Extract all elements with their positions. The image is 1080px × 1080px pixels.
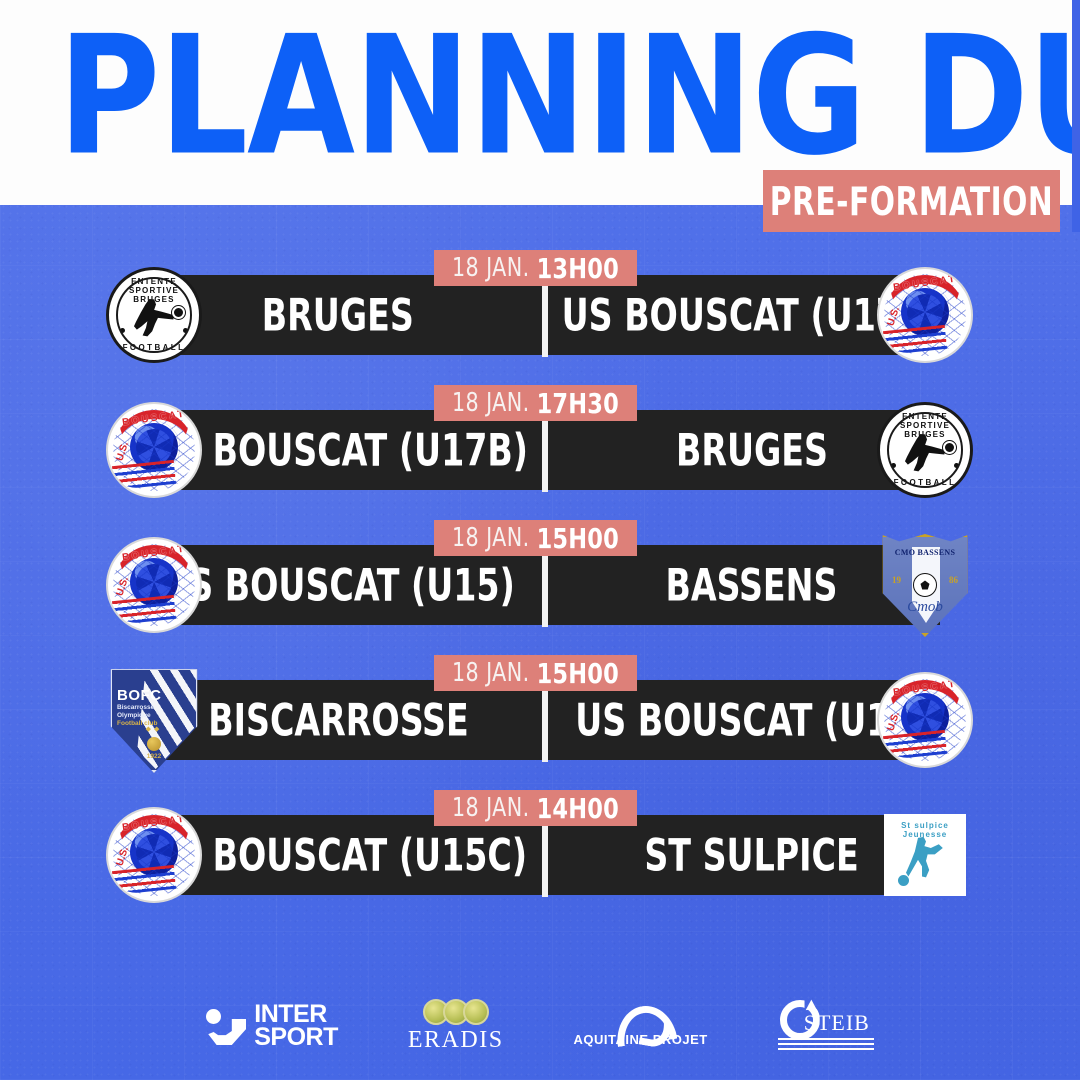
bassens-ball-icon <box>913 573 937 597</box>
steib-lines-icon <box>778 1038 874 1052</box>
aquitaine-swoosh-icon <box>597 1006 685 1038</box>
bassens-crest-title: CMO BASSENS <box>879 548 971 557</box>
match-date: 18 JAN. <box>452 523 530 552</box>
away-team-name: BASSENS <box>666 559 838 611</box>
home-team-name: BRUGES <box>262 289 414 341</box>
home-team-crest: BOFC Biscarrosse Olympique Football club… <box>104 662 204 778</box>
match-time: 15H00 <box>537 522 619 554</box>
match-time-pill: 18 JAN. 15H00 <box>434 655 637 691</box>
bruges-player-silhouette-icon <box>133 296 181 338</box>
home-team-name: US BOUSCAT (U15C) <box>150 829 527 881</box>
match-bar: US BOUSCAT (U15C) ST SULPICE <box>150 815 940 895</box>
match-row: 18 JAN. 15H00 BISCARROSSE US BOUSCAT (U1… <box>0 655 1080 790</box>
match-row: 18 JAN. 13H00 BRUGES US BOUSCAT (U17A) E… <box>0 250 1080 385</box>
match-row: 18 JAN. 14H00 US BOUSCAT (U15C) ST SULPI… <box>0 790 1080 925</box>
match-date: 18 JAN. <box>452 793 530 822</box>
intersport-line2: SPORT <box>254 1026 338 1049</box>
eradis-coin <box>463 999 489 1025</box>
bouscat-crest-icon: BOUSCAT U.S. <box>877 672 973 768</box>
match-date: 18 JAN. <box>452 253 530 282</box>
home-team-name: US BOUSCAT (U17B) <box>150 424 528 476</box>
bofc-subtitle-line1: Biscarrosse <box>117 704 165 712</box>
category-badge-label: PRE-FORMATION <box>770 178 1053 224</box>
home-team-crest: BOUSCAT U.S. <box>104 527 204 643</box>
home-team-cell: BRUGES <box>150 275 544 355</box>
match-list: 18 JAN. 13H00 BRUGES US BOUSCAT (U17A) E… <box>0 250 1080 925</box>
away-team-crest: CMO BASSENS 19 86 Cmob <box>875 527 975 643</box>
bassens-monogram: Cmob <box>879 599 971 616</box>
match-time-pill: 18 JAN. 13H00 <box>434 250 637 286</box>
sulpice-crest-text: St sulpice Jeunesse <box>884 821 966 839</box>
away-team-name: BRUGES <box>676 424 828 476</box>
home-team-cell: US BOUSCAT (U15) <box>150 545 545 625</box>
match-date: 18 JAN. <box>452 388 530 417</box>
bruges-dot-right-icon <box>183 328 188 333</box>
bofc-crest-icon: BOFC Biscarrosse Olympique Football club… <box>109 667 199 773</box>
sponsor-steib: STEIB <box>778 998 874 1054</box>
bruges-ball-icon <box>172 306 185 319</box>
bofc-crest-name: BOFC <box>117 687 162 704</box>
bassens-year-left: 19 <box>892 575 901 585</box>
bruges-crest-icon: ENTENTE SPORTIVE BRUGES FOOTBALL <box>106 267 202 363</box>
away-team-crest: BOUSCAT U.S. <box>875 662 975 778</box>
sponsor-intersport: INTER SPORT <box>206 997 338 1055</box>
home-team-cell: BISCARROSSE <box>150 680 545 760</box>
away-team-crest: ENTENTE SPORTIVE BRUGES FOOTBALL <box>875 392 975 508</box>
bruges-crest-top-text: ENTENTE SPORTIVE BRUGES <box>109 277 199 304</box>
match-time: 17H30 <box>537 387 619 419</box>
sponsor-strip: INTER SPORT ERADIS AQUITAINE PROJET STEI… <box>0 990 1080 1062</box>
eradis-coins-icon <box>423 999 489 1025</box>
bouscat-crest-icon: BOUSCAT U.S. <box>106 537 202 633</box>
steib-wordmark: STEIB <box>804 1010 870 1036</box>
intersport-wordmark: INTER SPORT <box>254 1003 338 1049</box>
bofc-stars-icon: ◆◆ <box>109 725 199 733</box>
bofc-subtitle-line2: Olympique <box>117 712 165 720</box>
bruges-crest-bottom-text: FOOTBALL <box>880 478 970 487</box>
sponsor-eradis: ERADIS <box>408 997 504 1055</box>
bruges-dot-left-icon <box>891 463 896 468</box>
match-time: 14H00 <box>537 792 619 824</box>
bofc-crest-year: 1922 <box>109 753 199 760</box>
eradis-wordmark: ERADIS <box>408 1027 504 1054</box>
match-time: 13H00 <box>537 252 619 284</box>
bruges-crest-bottom-text: FOOTBALL <box>109 343 199 352</box>
match-bar: BRUGES US BOUSCAT (U17A) <box>150 275 940 355</box>
away-team-crest: BOUSCAT U.S. <box>875 257 975 373</box>
bouscat-crest-icon: BOUSCAT U.S. <box>877 267 973 363</box>
away-team-name: ST SULPICE <box>644 829 858 881</box>
home-team-crest: BOUSCAT U.S. <box>104 392 204 508</box>
bruges-ball-icon <box>943 441 956 454</box>
sponsor-aquitaine-projet: AQUITAINE PROJET <box>574 997 708 1055</box>
bassens-crest-icon: CMO BASSENS 19 86 Cmob <box>879 533 971 637</box>
home-team-name: BISCARROSSE <box>208 694 469 746</box>
match-bar: BISCARROSSE US BOUSCAT (U14) <box>150 680 940 760</box>
bruges-dot-right-icon <box>954 463 959 468</box>
home-team-crest: ENTENTE SPORTIVE BRUGES FOOTBALL <box>104 257 204 373</box>
bofc-ball-icon <box>147 737 161 751</box>
sulpice-player-silhouette-icon <box>906 836 946 882</box>
bruges-player-silhouette-icon <box>904 431 952 473</box>
home-team-cell: US BOUSCAT (U15C) <box>150 815 545 895</box>
home-team-name: US BOUSCAT (U15) <box>162 559 515 611</box>
bruges-crest-icon: ENTENTE SPORTIVE BRUGES FOOTBALL <box>877 402 973 498</box>
bruges-crest-top-text: ENTENTE SPORTIVE BRUGES <box>880 412 970 439</box>
away-team-crest: St sulpice Jeunesse <box>875 797 975 913</box>
match-row: 18 JAN. 17H30 US BOUSCAT (U17B) BRUGES B… <box>0 385 1080 520</box>
bouscat-crest-icon: BOUSCAT U.S. <box>106 402 202 498</box>
bouscat-crest-icon: BOUSCAT U.S. <box>106 807 202 903</box>
bruges-dot-left-icon <box>120 328 125 333</box>
home-team-cell: US BOUSCAT (U17B) <box>150 410 546 490</box>
match-time: 15H00 <box>537 657 619 689</box>
home-team-crest: BOUSCAT U.S. <box>104 797 204 913</box>
header-right-rail <box>1072 0 1080 232</box>
match-time-pill: 18 JAN. 17H30 <box>434 385 637 421</box>
category-badge: PRE-FORMATION <box>763 170 1060 232</box>
match-time-pill: 18 JAN. 14H00 <box>434 790 637 826</box>
match-bar: US BOUSCAT (U15) BASSENS <box>150 545 940 625</box>
match-date: 18 JAN. <box>452 658 530 687</box>
sulpice-crest-icon: St sulpice Jeunesse <box>884 814 966 896</box>
bassens-year-right: 86 <box>949 575 958 585</box>
intersport-swoosh-icon <box>206 1007 246 1045</box>
page-title: PLANNING DU WEEK-END <box>58 10 1037 183</box>
sulpice-ball-icon <box>898 875 909 886</box>
match-row: 18 JAN. 15H00 US BOUSCAT (U15) BASSENS B… <box>0 520 1080 655</box>
match-bar: US BOUSCAT (U17B) BRUGES <box>150 410 940 490</box>
match-time-pill: 18 JAN. 15H00 <box>434 520 637 556</box>
